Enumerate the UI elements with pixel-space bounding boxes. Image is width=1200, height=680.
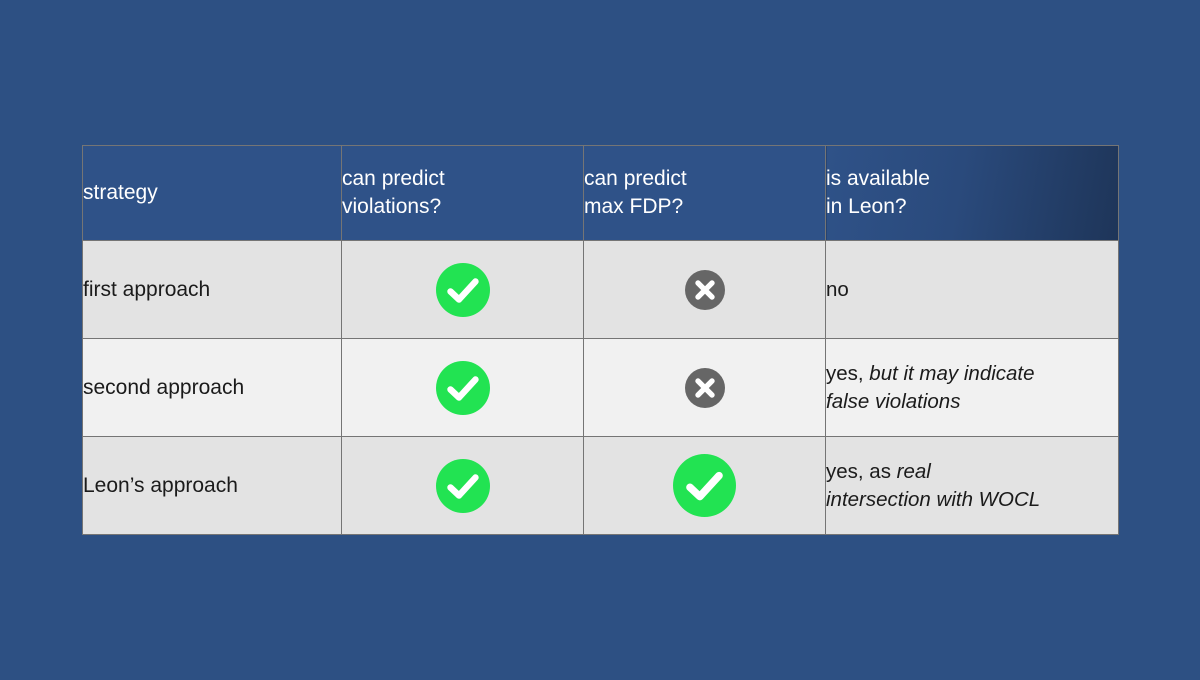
cell-can-predict-violations — [342, 241, 584, 339]
cell-can-predict-violations — [342, 437, 584, 535]
comparison-table-container: strategy can predict violations? can pre… — [82, 145, 1118, 535]
table-row: second approach — [83, 339, 1119, 437]
slide-canvas: strategy can predict violations? can pre… — [0, 0, 1200, 680]
column-header-can-predict-max-fdp: can predict max FDP? — [584, 146, 826, 241]
column-header-can-predict-violations-line1: can predict — [342, 165, 583, 193]
cell-can-predict-violations — [342, 339, 584, 437]
cross-circle-icon — [685, 368, 725, 408]
column-header-is-available-in-leon-line2: in Leon? — [826, 193, 1118, 221]
cell-can-predict-max-fdp — [584, 437, 826, 535]
table-row: first approach — [83, 241, 1119, 339]
cell-available-italic-2: intersection with WOCL — [826, 488, 1040, 511]
cell-available-in-leon: no — [826, 241, 1119, 339]
column-header-can-predict-violations: can predict violations? — [342, 146, 584, 241]
column-header-can-predict-max-fdp-line2: max FDP? — [584, 193, 825, 221]
column-header-is-available-in-leon: is available in Leon? — [826, 146, 1119, 241]
cell-can-predict-max-fdp — [584, 339, 826, 437]
cell-strategy-name: second approach — [83, 339, 342, 437]
cross-circle-icon — [685, 270, 725, 310]
check-circle-icon — [436, 361, 490, 415]
table-header-row: strategy can predict violations? can pre… — [83, 146, 1119, 241]
check-circle-icon — [673, 454, 736, 517]
check-circle-icon — [436, 263, 490, 317]
column-header-can-predict-max-fdp-line1: can predict — [584, 165, 825, 193]
cell-available-italic-1: real — [897, 460, 931, 483]
table-body: first approach — [83, 241, 1119, 535]
cell-available-italic-2: false violations — [826, 390, 960, 413]
column-header-is-available-in-leon-line1: is available — [826, 165, 1118, 193]
cell-strategy-name: Leon’s approach — [83, 437, 342, 535]
column-header-can-predict-violations-line2: violations? — [342, 193, 583, 221]
cell-available-italic-1: but it may indicate — [869, 362, 1034, 385]
cell-strategy-name: first approach — [83, 241, 342, 339]
cell-available-in-leon: yes, but it may indicate false violation… — [826, 339, 1119, 437]
check-circle-icon — [436, 459, 490, 513]
cell-available-plain-1: yes, as — [826, 460, 897, 483]
cell-available-plain-1: no — [826, 278, 849, 301]
strategy-comparison-table: strategy can predict violations? can pre… — [82, 145, 1119, 535]
cell-can-predict-max-fdp — [584, 241, 826, 339]
cell-available-in-leon: yes, as real intersection with WOCL — [826, 437, 1119, 535]
column-header-strategy-line1: strategy — [83, 179, 341, 207]
table-row: Leon’s approach — [83, 437, 1119, 535]
column-header-strategy: strategy — [83, 146, 342, 241]
table-header: strategy can predict violations? can pre… — [83, 146, 1119, 241]
cell-available-plain-1: yes, — [826, 362, 869, 385]
